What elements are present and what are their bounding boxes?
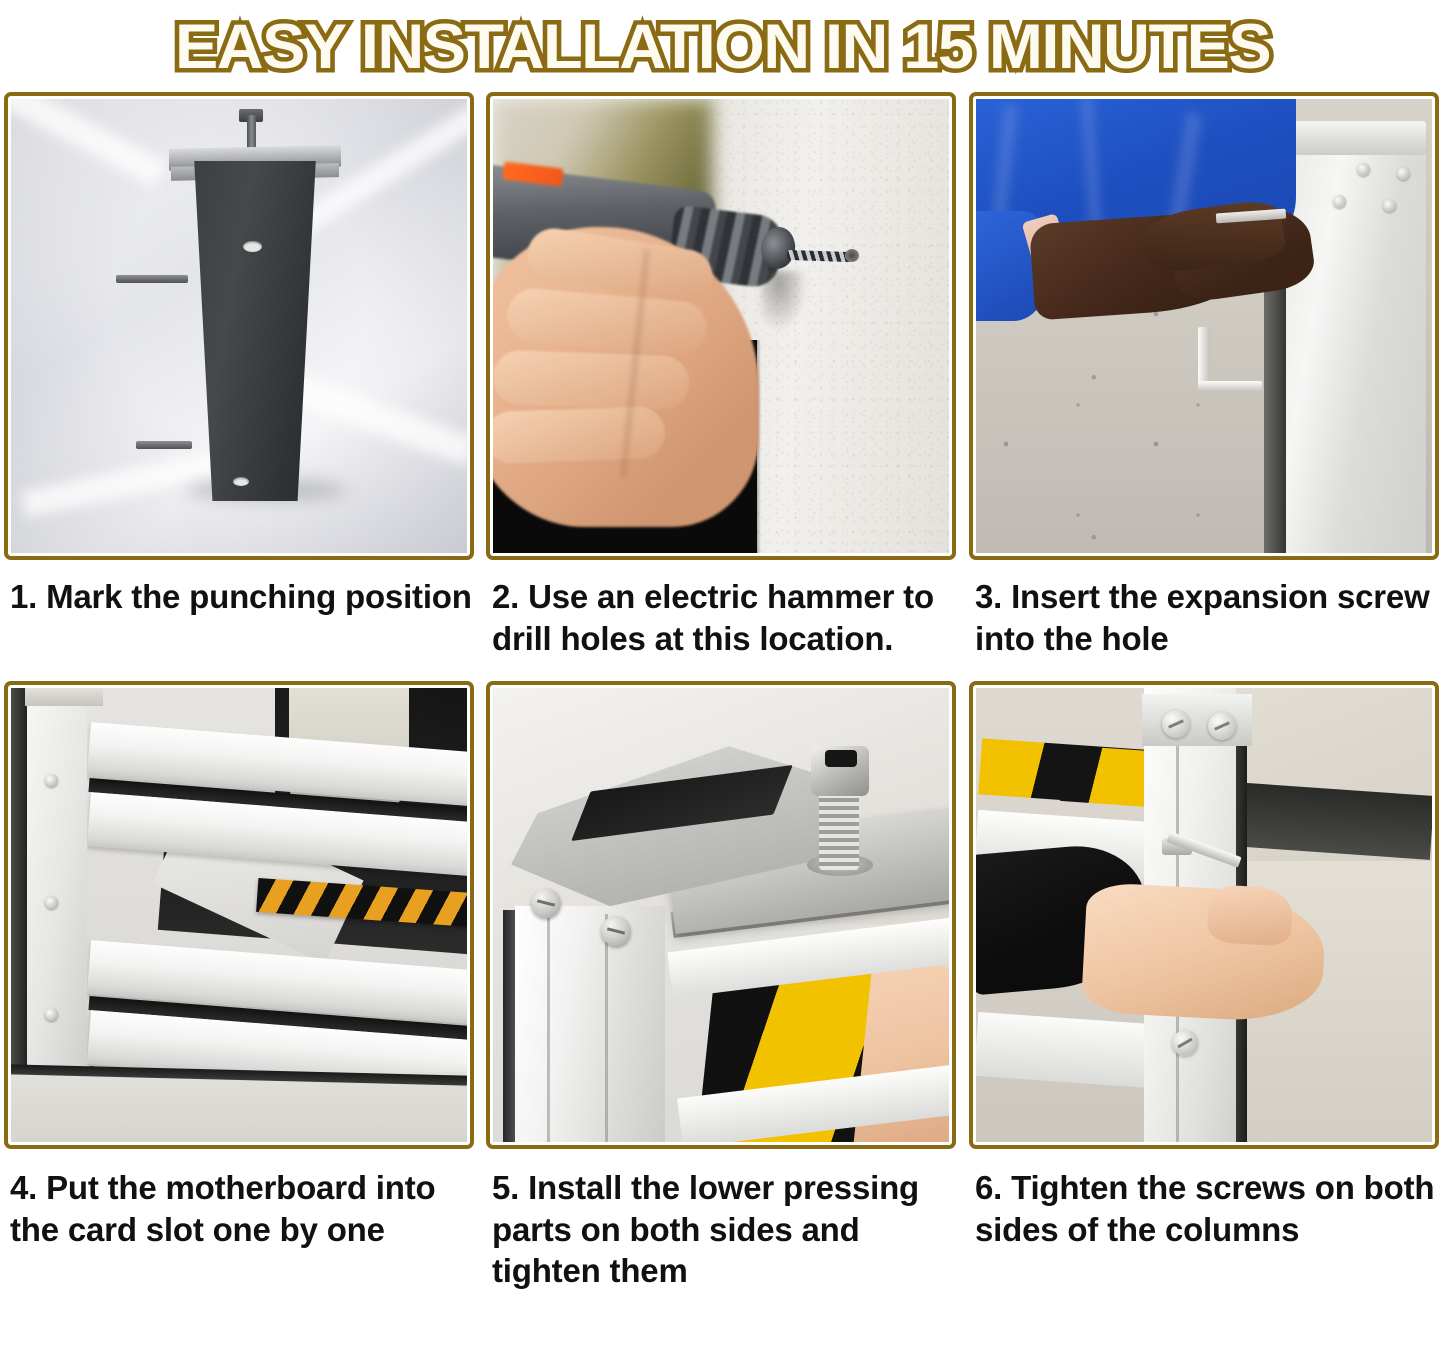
column-screw — [1383, 199, 1396, 212]
step-caption-1: 1. Mark the punching position — [4, 560, 482, 618]
step-photo-frame-4 — [4, 681, 474, 1149]
column-cap — [1274, 121, 1426, 155]
page-title-bar: EASY INSTALLATION IN 15 MINUTES — [0, 0, 1445, 92]
mounting-hole — [243, 241, 262, 252]
column-screw — [1357, 163, 1370, 176]
mounting-stud — [116, 275, 188, 283]
mounting-hole — [233, 477, 249, 486]
hex-key-long-arm — [1198, 327, 1210, 389]
column-cap — [25, 688, 103, 706]
steps-row-1: 1. Mark the punching position — [0, 92, 1445, 659]
step-photo-5 — [493, 688, 949, 1142]
step-caption-4: 4. Put the motherboard into the card slo… — [4, 1149, 482, 1250]
page-title: EASY INSTALLATION IN 15 MINUTES — [175, 16, 1270, 79]
steps-row-2: 4. Put the motherboard into the card slo… — [0, 681, 1445, 1292]
step-card-5: 5. Install the lower pressing parts on b… — [486, 681, 965, 1292]
step-photo-frame-6 — [969, 681, 1439, 1149]
drill-dust — [761, 271, 807, 331]
hex-key-short-arm — [1198, 381, 1262, 392]
row-spacer — [0, 659, 1445, 681]
step-card-4: 4. Put the motherboard into the card slo… — [4, 681, 482, 1292]
step-caption-3: 3. Insert the expansion screw into the h… — [969, 560, 1445, 659]
step-photo-frame-3 — [969, 92, 1439, 560]
bracket-screw — [531, 888, 561, 918]
white-column — [515, 906, 665, 1142]
step-photo-4 — [11, 688, 467, 1142]
column-screw — [1162, 710, 1190, 738]
bolt-thread — [819, 786, 859, 870]
drilled-hole — [845, 249, 859, 262]
step-photo-1 — [11, 99, 467, 553]
column-screw — [1172, 1030, 1198, 1056]
step-card-3: 3. Insert the expansion screw into the h… — [969, 92, 1445, 659]
step-photo-2 — [493, 99, 949, 553]
step-caption-2: 2. Use an electric hammer to drill holes… — [486, 560, 965, 659]
step-photo-6 — [976, 688, 1432, 1142]
column-cap — [1142, 694, 1252, 746]
hazard-stripe-tape — [1060, 745, 1150, 807]
installation-guide-page: EASY INSTALLATION IN 15 MINUTES — [0, 0, 1445, 1352]
step-card-6: 6. Tighten the screws on both sides of t… — [969, 681, 1445, 1292]
column-screw — [1208, 712, 1236, 740]
step-card-2: 2. Use an electric hammer to drill holes… — [486, 92, 965, 659]
step-photo-frame-5 — [486, 681, 956, 1149]
finger — [493, 350, 690, 411]
finger — [493, 406, 666, 464]
column-screw — [1397, 167, 1410, 180]
step-photo-3 — [976, 99, 1432, 553]
step-photo-frame-2 — [486, 92, 956, 560]
step-caption-6: 6. Tighten the screws on both sides of t… — [969, 1149, 1445, 1250]
mounting-stud — [136, 441, 192, 449]
bracket-screw — [601, 916, 631, 946]
step-card-1: 1. Mark the punching position — [4, 92, 482, 659]
column-groove — [605, 914, 608, 1142]
hex-bolt-socket — [825, 750, 857, 767]
column-screw — [1333, 195, 1346, 208]
floor — [11, 1072, 467, 1142]
step-photo-frame-1 — [4, 92, 474, 560]
barrier-board — [976, 1012, 1154, 1088]
column-groove — [547, 914, 550, 1142]
white-column — [1286, 133, 1426, 553]
step-caption-5: 5. Install the lower pressing parts on b… — [486, 1149, 965, 1292]
threaded-rod — [247, 115, 256, 151]
